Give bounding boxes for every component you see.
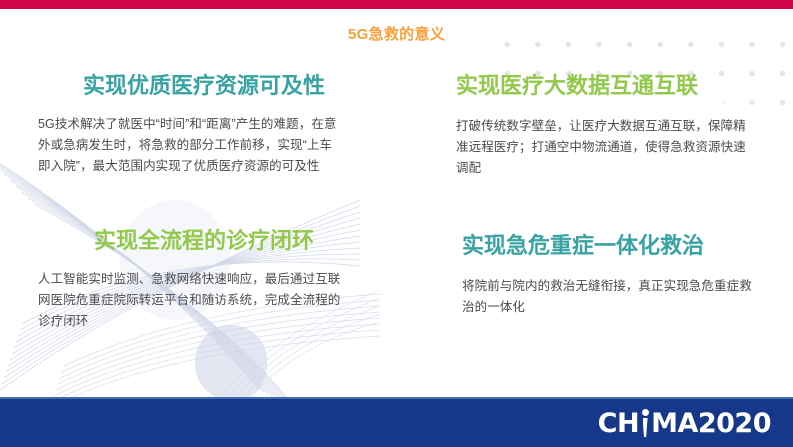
top-accent-bar [0,0,793,9]
content-block-quality-resources: 实现优质医疗资源可及性 5G技术解决了就医中“时间”和“距离”产生的难题，在意外… [30,72,370,177]
person-i-icon [639,409,651,437]
content-block-big-data: 实现医疗大数据互通互联 打破传统数字壁垒，让医疗大数据互通互联，保障精准远程医疗… [448,72,788,179]
block-body-text: 打破传统数字壁垒，让医疗大数据互通互联，保障精准远程医疗；打通空中物流通道，使得… [456,116,746,179]
presentation-slide: 5G急救的意义 实现优质医疗资源可及性 5G技术解决了就医中“时间”和“距离”产… [0,0,793,447]
logo-prefix: CH [598,408,639,439]
block-heading: 实现急危重症一体化救治 [448,232,788,260]
block-heading: 实现优质医疗资源可及性 [30,72,370,100]
logo-suffix: MA2020 [651,408,771,439]
chima-2020-logo: CH MA2020 [598,407,771,439]
block-heading: 实现医疗大数据互通互联 [448,72,788,100]
content-block-critical-care: 实现急危重症一体化救治 将院前与院内的救治无缝衔接，真正实现急危重症救治的一体化 [448,232,788,318]
block-body-text: 5G技术解决了就医中“时间”和“距离”产生的难题，在意外或急病发生时，将急救的部… [38,114,338,177]
content-block-full-process: 实现全流程的诊疗闭环 人工智能实时监测、急救网络快速响应，最后通过互联网医院危重… [30,227,370,332]
block-body-text: 将院前与院内的救治无缝衔接，真正实现急危重症救治的一体化 [462,276,752,318]
slide-title: 5G急救的意义 [0,23,793,44]
block-heading: 实现全流程的诊疗闭环 [30,227,370,255]
block-body-text: 人工智能实时监测、急救网络快速响应，最后通过互联网医院危重症院际转运平台和随访系… [38,269,343,332]
